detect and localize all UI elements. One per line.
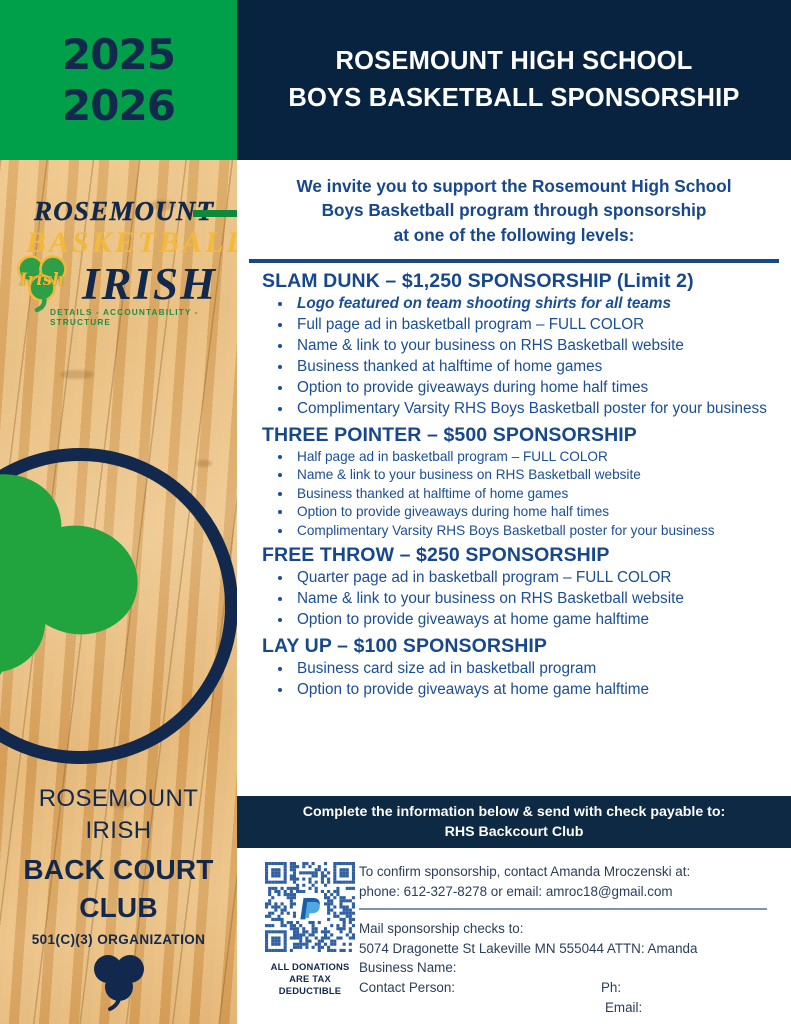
tier-benefit-item: Full page ad in basketball program – FUL… xyxy=(293,315,781,336)
tier-benefit-item: Option to provide giveaways at home game… xyxy=(293,680,781,701)
paypal-logo-icon xyxy=(296,893,324,921)
contact-divider xyxy=(359,908,767,910)
label-phone: Ph: xyxy=(601,980,621,995)
tax-note-line-2: ARE TAX xyxy=(265,973,355,985)
sidebar-wood-panel: ROSEMOUNT BASKETBALL IRISH Irish DETAILS… xyxy=(0,160,237,1024)
tier-benefit-item: Half page ad in basketball program – FUL… xyxy=(293,448,781,466)
tier-benefit-item: Name & link to your business on RHS Bask… xyxy=(293,466,781,484)
payment-line-1: Complete the information below & send wi… xyxy=(303,802,726,822)
tier-benefit-item: Option to provide giveaways during home … xyxy=(293,378,781,399)
wood-knot-icon xyxy=(60,370,94,379)
confirm-line-2: phone: 612-327-8278 or email: amroc18@gm… xyxy=(359,882,779,902)
tier-benefit-item: Name & link to your business on RHS Bask… xyxy=(293,336,781,357)
label-business-name: Business Name: xyxy=(359,960,457,975)
club-line-club: CLUB xyxy=(0,891,237,925)
club-line-backcourt: BACK COURT xyxy=(0,853,237,887)
sponsorship-flyer: 2025 2026 ROSEMOUNT HIGH SCHOOL BOYS BAS… xyxy=(0,0,791,1024)
paypal-qr-code-icon[interactable] xyxy=(265,862,355,952)
large-shamrock-icon xyxy=(0,468,158,718)
tier-benefit-item: Complimentary Varsity RHS Boys Basketbal… xyxy=(293,399,781,420)
invitation-line-1: We invite you to support the Rosemount H… xyxy=(250,174,778,198)
tier-benefit-item: Complimentary Varsity RHS Boys Basketbal… xyxy=(293,522,781,540)
tier-benefit-item: Business card size ad in basketball prog… xyxy=(293,659,781,680)
season-year-start: 2025 xyxy=(62,29,175,80)
tier-title: LAY UP – $100 SPONSORSHIP xyxy=(262,635,781,658)
small-shamrock-icon xyxy=(88,951,150,1011)
label-email: Email: xyxy=(605,1000,642,1015)
tier-title: FREE THROW – $250 SPONSORSHIP xyxy=(262,544,781,567)
tax-deductible-note: ALL DONATIONS ARE TAX DEDUCTIBLE xyxy=(265,961,355,997)
page-header: 2025 2026 ROSEMOUNT HIGH SCHOOL BOYS BAS… xyxy=(0,0,791,160)
mail-line-2: 5074 Dragonette St Lakeville MN 555044 A… xyxy=(359,939,779,959)
wood-knot-icon xyxy=(196,460,212,467)
form-row-email: Email: xyxy=(359,1000,779,1020)
tier-benefit-item: Business thanked at halftime of home gam… xyxy=(293,357,781,378)
backcourt-club-block: ROSEMOUNT IRISH BACK COURT CLUB 501(C)(3… xyxy=(0,785,237,1016)
tier-benefit-item: Option to provide giveaways at home game… xyxy=(293,610,781,631)
logo-tagline: DETAILS - ACCOUNTABILITY - STRUCTURE xyxy=(50,307,237,327)
contact-details: To confirm sponsorship, contact Amanda M… xyxy=(359,862,779,1020)
page-title: ROSEMOUNT HIGH SCHOOL BOYS BASKETBALL SP… xyxy=(237,0,791,160)
page-title-line-2: BOYS BASKETBALL SPONSORSHIP xyxy=(288,80,739,117)
tier-benefit-item: Quarter page ad in basketball program – … xyxy=(293,568,781,589)
shamrock-badge: Irish xyxy=(10,250,74,314)
season-year-block: 2025 2026 xyxy=(0,0,237,160)
club-line-nonprofit: 501(C)(3) ORGANIZATION xyxy=(0,932,237,947)
page-title-line-1: ROSEMOUNT HIGH SCHOOL xyxy=(336,43,693,80)
logo-word-rosemount: ROSEMOUNT xyxy=(34,196,214,227)
invitation-line-2: Boys Basketball program through sponsors… xyxy=(250,198,778,222)
tier-benefit-item: Option to provide giveaways during home … xyxy=(293,503,781,521)
logo-word-irish: IRISH xyxy=(82,258,217,310)
tier-benefit-list: Quarter page ad in basketball program – … xyxy=(247,568,781,631)
contact-section: ALL DONATIONS ARE TAX DEDUCTIBLE To conf… xyxy=(237,848,791,1024)
sponsorship-tier-list: SLAM DUNK – $1,250 SPONSORSHIP (Limit 2)… xyxy=(237,263,791,701)
qr-code-block: ALL DONATIONS ARE TAX DEDUCTIBLE xyxy=(265,862,355,997)
tier-benefit-list: Logo featured on team shooting shirts fo… xyxy=(247,294,781,420)
tax-note-line-3: DEDUCTIBLE xyxy=(265,985,355,997)
confirm-line-1: To confirm sponsorship, contact Amanda M… xyxy=(359,862,779,882)
tier-benefit-item: Business thanked at halftime of home gam… xyxy=(293,485,781,503)
club-line-irish: IRISH xyxy=(0,813,237,849)
season-year-end: 2026 xyxy=(62,80,175,131)
mail-line-1: Mail sponsorship checks to: xyxy=(359,919,779,939)
team-logo: ROSEMOUNT BASKETBALL IRISH Irish DETAILS… xyxy=(8,188,237,323)
tier-benefit-item: Name & link to your business on RHS Bask… xyxy=(293,589,781,610)
invitation-line-3: at one of the following levels: xyxy=(250,223,778,247)
tier-benefit-list: Business card size ad in basketball prog… xyxy=(247,659,781,701)
tier-title: SLAM DUNK – $1,250 SPONSORSHIP (Limit 2) xyxy=(262,270,781,293)
tier-title: THREE POINTER – $500 SPONSORSHIP xyxy=(262,424,781,447)
label-contact-person: Contact Person: xyxy=(359,980,455,995)
invitation-text: We invite you to support the Rosemount H… xyxy=(237,160,791,247)
tax-note-line-1: ALL DONATIONS xyxy=(265,961,355,973)
tier-benefit-list: Half page ad in basketball program – FUL… xyxy=(247,448,781,540)
payment-line-2: RHS Backcourt Club xyxy=(445,822,584,842)
payment-instruction-band: Complete the information below & send wi… xyxy=(237,796,791,848)
tier-benefit-item: Logo featured on team shooting shirts fo… xyxy=(293,294,781,315)
club-line-rosemount: ROSEMOUNT xyxy=(0,785,237,813)
form-row-contact: Contact Person: Ph: xyxy=(359,980,779,1000)
form-row-business: Business Name: xyxy=(359,960,779,980)
shamrock-badge-word: Irish xyxy=(10,270,74,290)
logo-green-bar xyxy=(193,210,237,217)
